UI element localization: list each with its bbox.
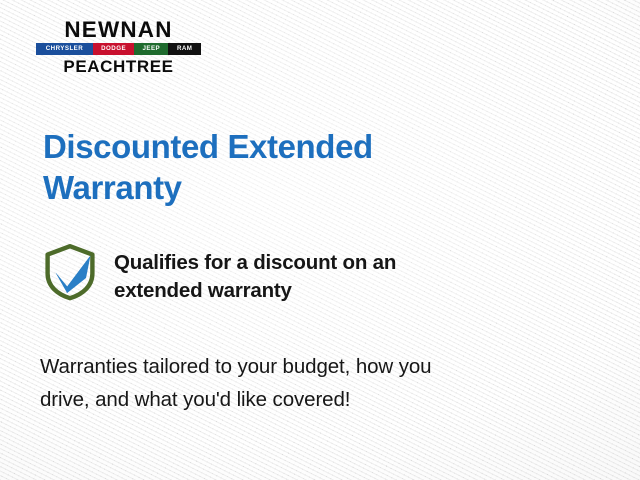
closing-line-1: Warranties tailored to your budget, how … [40, 350, 560, 383]
brand-badge-ram: RAM [168, 43, 201, 55]
benefit-row: Qualifies for a discount on an extended … [43, 245, 543, 305]
content-layer: NEWNAN CHRYSLER DODGE JEEP RAM PEACHTREE… [0, 0, 640, 480]
dealership-logo: NEWNAN CHRYSLER DODGE JEEP RAM PEACHTREE [36, 18, 201, 76]
shield-check-icon [43, 243, 97, 301]
closing-paragraph: Warranties tailored to your budget, how … [40, 350, 560, 416]
closing-line-2: drive, and what you'd like covered! [40, 383, 560, 416]
benefit-line-1: Qualifies for a discount on an [114, 249, 396, 277]
brand-badge-jeep: JEEP [134, 43, 168, 55]
advertisement-canvas: NEWNAN CHRYSLER DODGE JEEP RAM PEACHTREE… [0, 0, 640, 480]
headline-line-2: Warranty [43, 167, 513, 208]
page-title: Discounted Extended Warranty [43, 126, 513, 208]
logo-name-top: NEWNAN [34, 18, 202, 41]
benefit-text: Qualifies for a discount on an extended … [114, 245, 396, 305]
brand-badge-chrysler: CHRYSLER [36, 43, 93, 55]
headline-line-1: Discounted Extended [43, 126, 513, 167]
brand-badge-row: CHRYSLER DODGE JEEP RAM [36, 43, 201, 55]
logo-name-bottom: PEACHTREE [36, 57, 201, 76]
brand-badge-dodge: DODGE [93, 43, 134, 55]
benefit-line-2: extended warranty [114, 277, 396, 305]
